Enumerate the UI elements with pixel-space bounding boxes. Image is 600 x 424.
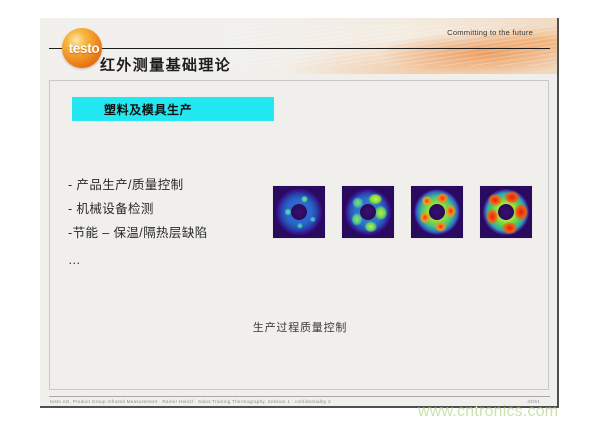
thermal-image-2 (341, 185, 395, 239)
slide-body: 塑料及模具生产 - 产品生产/质量控制 - 机械设备检测 -节能 – 保温/隔热… (49, 80, 549, 390)
presentation-slide: Committing to the future testo 红外测量基础理论 … (40, 18, 559, 408)
bullet-ellipsis: … (68, 245, 298, 271)
slide-subtitle-text: 塑料及模具生产 (104, 101, 192, 118)
site-watermark: www.cntronics.com (418, 403, 558, 421)
slide-title: 红外测量基础理论 (100, 54, 231, 75)
slide-page: Committing to the future testo 红外测量基础理论 … (0, 0, 600, 424)
bullet-item: - 机械设备检测 (68, 197, 298, 221)
thermal-hub (360, 204, 376, 220)
thermal-hub (498, 204, 514, 220)
brand-tagline: Committing to the future (447, 28, 533, 37)
thermal-hub (429, 204, 445, 220)
header-gradient-decoration (229, 18, 559, 74)
slide-subtitle-chip: 塑料及模具生产 (72, 97, 274, 121)
thermal-image-3 (410, 185, 464, 239)
bullet-list: - 产品生产/质量控制 - 机械设备检测 -节能 – 保温/隔热层缺陷 … (68, 173, 298, 271)
bullet-item: - 产品生产/质量控制 (68, 173, 298, 197)
bullet-item: -节能 – 保温/隔热层缺陷 (68, 221, 298, 245)
thermal-image-gallery (272, 185, 533, 239)
thermal-image-1 (272, 185, 326, 239)
header-divider-line (49, 48, 550, 49)
testo-logo-text: testo (58, 43, 110, 55)
gallery-caption: 生产过程质量控制 (50, 319, 550, 335)
thermal-image-4 (479, 185, 533, 239)
thermal-hub (291, 204, 307, 220)
footer-divider-line (49, 396, 550, 397)
footer-credit-text: testo AG, Product Group Infrared Measure… (50, 399, 331, 404)
